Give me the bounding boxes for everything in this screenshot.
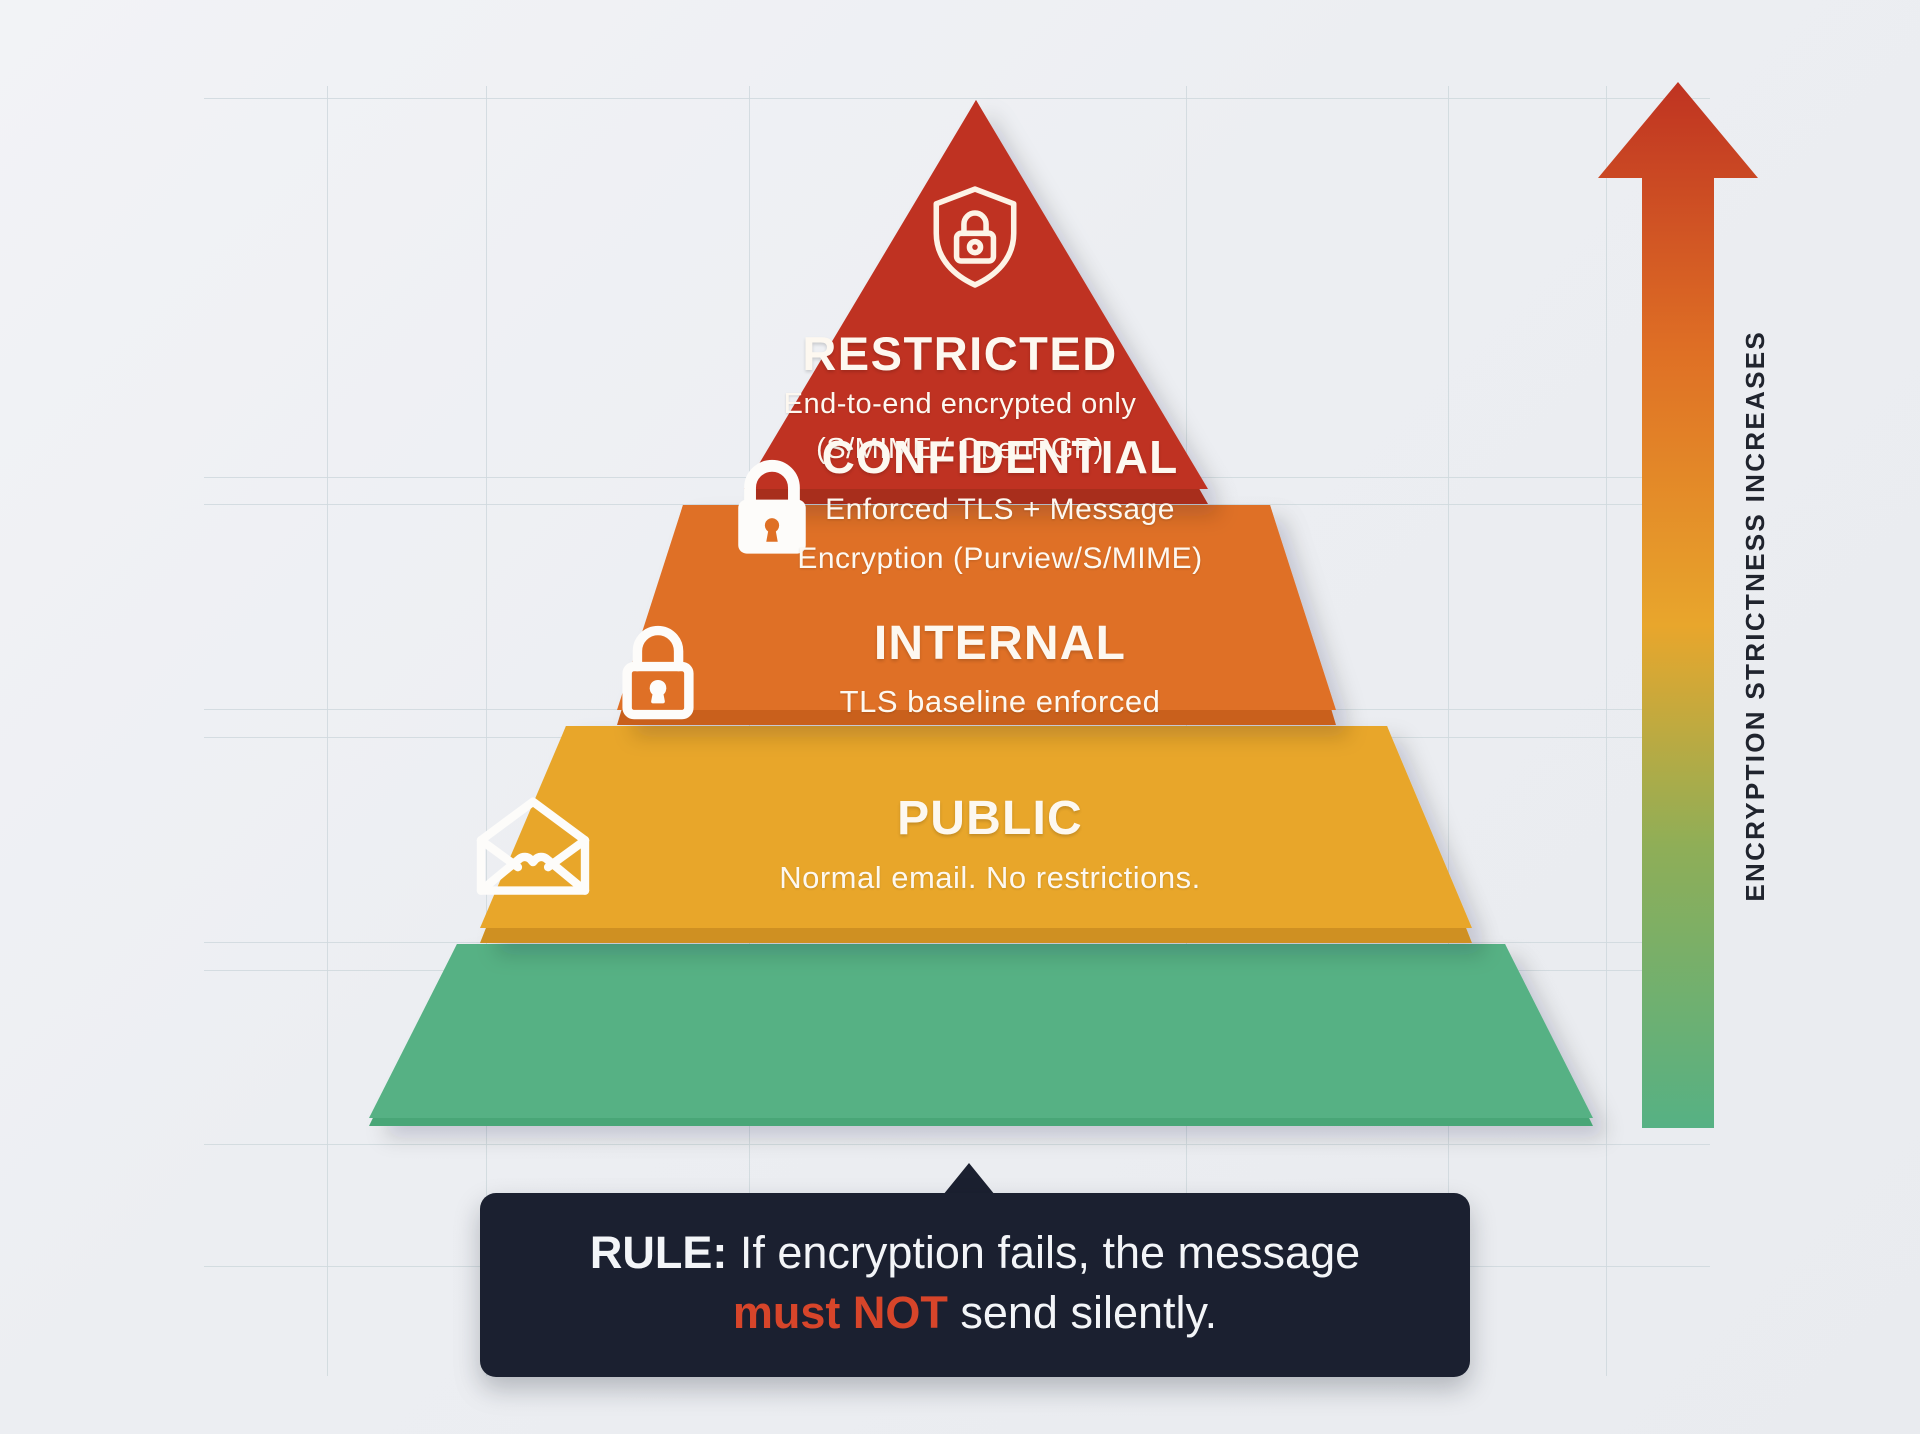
tier-shape-public[interactable] <box>369 944 1593 1126</box>
rule-callout-line-1: RULE: If encryption fails, the message <box>514 1223 1436 1283</box>
diagram-canvas: RESTRICTED End-to-end encrypted only (S/… <box>0 0 1920 1434</box>
rule-callout-line-2: must NOT send silently. <box>514 1283 1436 1343</box>
tier-shape-internal[interactable] <box>480 726 1472 943</box>
rule-line1-text: If encryption fails, the message <box>727 1227 1360 1278</box>
tier-shape-restricted[interactable] <box>744 100 1208 504</box>
strictness-axis-label: ENCRYPTION STRICTNESS INCREASES <box>1740 0 1771 330</box>
rule-label: RULE: <box>590 1227 727 1278</box>
strictness-arrow <box>1598 82 1758 1130</box>
rule-line2-text: send silently. <box>948 1287 1217 1338</box>
strictness-arrow-shape <box>1598 82 1758 1130</box>
callout-pointer <box>943 1163 995 1195</box>
rule-callout: RULE: If encryption fails, the message m… <box>480 1193 1470 1377</box>
tier-shape-confidential[interactable] <box>617 505 1336 725</box>
rule-emphasis: must NOT <box>733 1287 948 1338</box>
strictness-axis-label-text: ENCRYPTION STRICTNESS INCREASES <box>1740 330 1771 970</box>
